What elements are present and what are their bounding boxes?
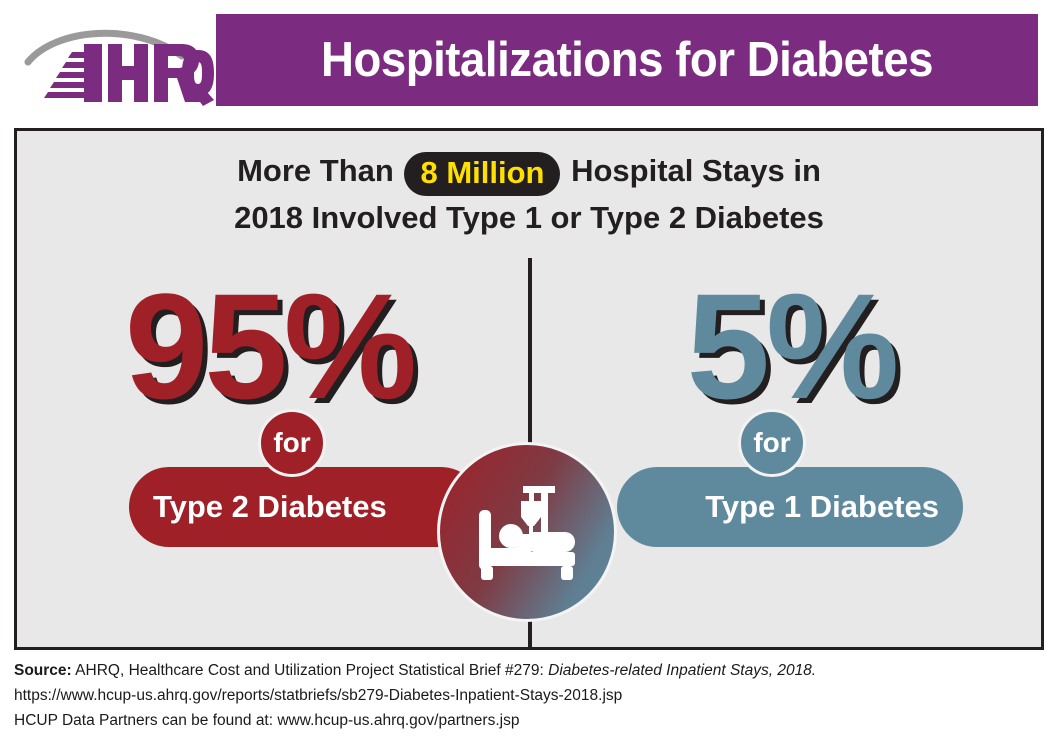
footer-url[interactable]: https://www.hcup-us.ahrq.gov/reports/sta… — [14, 683, 1044, 708]
stat-group-type-1: 5% for Type 1 Diabetes — [541, 271, 1041, 631]
headline-line-1: More Than 8 Million Hospital Stays in — [17, 149, 1041, 196]
headline-after: Hospital Stays in — [571, 153, 821, 188]
percent-value-type-2: 95% — [19, 271, 519, 421]
ahrq-logo — [22, 22, 214, 108]
for-circle-type-2: for — [258, 409, 326, 477]
center-medallion — [437, 442, 617, 622]
for-circle-type-1: for — [738, 409, 806, 477]
headline: More Than 8 Million Hospital Stays in 20… — [17, 149, 1041, 240]
label-bar-type-2: Type 2 Diabetes — [129, 467, 481, 547]
headline-line-2: 2018 Involved Type 1 or Type 2 Diabetes — [17, 196, 1041, 240]
footer-partners[interactable]: HCUP Data Partners can be found at: www.… — [14, 708, 1044, 733]
hospital-bed-icon — [467, 472, 587, 592]
page-title: Hospitalizations for Diabetes — [321, 36, 933, 85]
highlight-badge: 8 Million — [404, 152, 560, 196]
label-bar-type-1: Type 1 Diabetes — [617, 467, 963, 547]
source-title: Diabetes-related Inpatient Stays, 2018. — [548, 662, 816, 679]
source-text: AHRQ, Healthcare Cost and Utilization Pr… — [75, 662, 544, 679]
footer-line-source: Source: AHRQ, Healthcare Cost and Utiliz… — [14, 658, 1044, 683]
title-bar: Hospitalizations for Diabetes — [216, 14, 1038, 106]
headline-before: More Than — [237, 153, 394, 188]
header: Hospitalizations for Diabetes — [0, 0, 1058, 112]
stat-group-type-2: 95% for Type 2 Diabetes — [19, 271, 519, 631]
percent-value-type-1: 5% — [541, 271, 1041, 421]
source-label: Source: — [14, 662, 72, 679]
footer-source: Source: AHRQ, Healthcare Cost and Utiliz… — [14, 658, 1044, 733]
